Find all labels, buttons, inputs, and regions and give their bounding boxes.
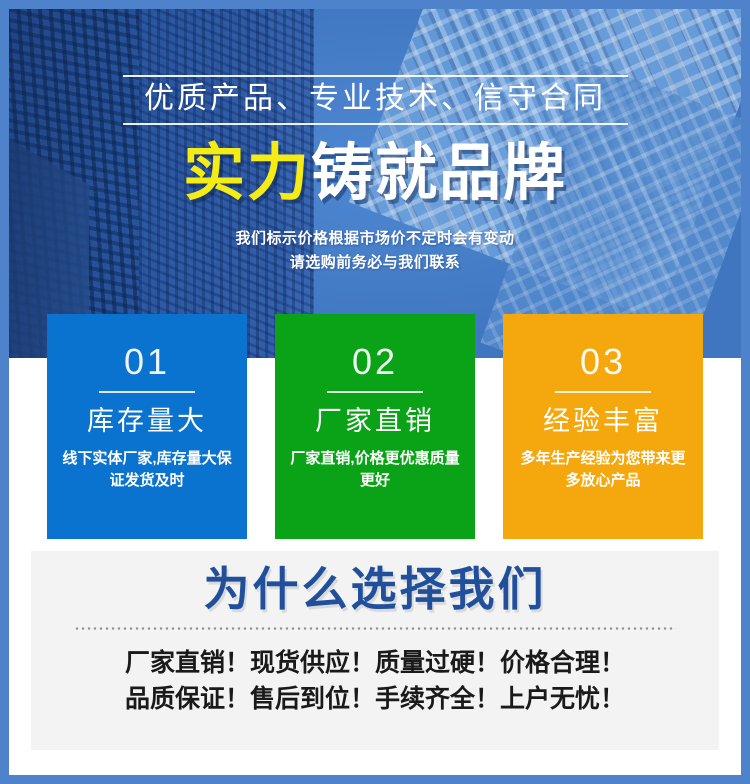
- why-choose-us-section: 为什么选择我们 厂家直销！现货供应！质量过硬！价格合理！ 品质保证！售后到位！手…: [31, 551, 719, 750]
- card-title: 厂家直销: [315, 407, 435, 437]
- card-divider: [555, 391, 651, 393]
- hero-subtext: 我们标示价格根据市场价不定时会有变动 请选购前务必与我们联系: [235, 227, 514, 277]
- slogan-list: 厂家直销！现货供应！质量过硬！价格合理！ 品质保证！售后到位！手续齐全！上户无忧…: [125, 646, 625, 717]
- promo-banner: 优质产品、专业技术、信守合同 实力铸就品牌 我们标示价格根据市场价不定时会有变动…: [0, 0, 750, 784]
- hero-subtext-line-2: 请选购前务必与我们联系: [235, 251, 514, 276]
- card-title: 库存量大: [87, 407, 207, 437]
- card-description: 多年生产经验为您带来更多放心产品: [515, 448, 691, 493]
- slogan-line-2: 品质保证！售后到位！手续齐全！上户无忧！: [125, 682, 625, 718]
- tagline-container: 优质产品、专业技术、信守合同: [123, 75, 628, 125]
- hero-headline: 实力铸就品牌: [183, 143, 567, 205]
- card-description: 厂家直销,价格更优惠质量更好: [287, 448, 463, 493]
- feature-card-02[interactable]: 02 厂家直销 厂家直销,价格更优惠质量更好: [275, 314, 475, 539]
- card-number: 03: [580, 344, 626, 380]
- hero-subtext-line-1: 我们标示价格根据市场价不定时会有变动: [235, 227, 514, 252]
- headline-highlight: 实力: [183, 139, 311, 208]
- slogan-line-1: 厂家直销！现货供应！质量过硬！价格合理！: [125, 646, 625, 682]
- card-number: 01: [124, 344, 170, 380]
- card-divider: [327, 391, 423, 393]
- feature-cards: 01 库存量大 线下实体厂家,库存量大保证发货及时 02 厂家直销 厂家直销,价…: [47, 314, 703, 539]
- headline-rest: 铸就品牌: [311, 139, 567, 208]
- dotted-divider: [74, 627, 676, 630]
- card-number: 02: [352, 344, 398, 380]
- hero-tagline: 优质产品、专业技术、信守合同: [123, 82, 628, 117]
- feature-card-03[interactable]: 03 经验丰富 多年生产经验为您带来更多放心产品: [503, 314, 703, 539]
- card-divider: [99, 391, 195, 393]
- hero-section: 优质产品、专业技术、信守合同 实力铸就品牌 我们标示价格根据市场价不定时会有变动…: [9, 9, 741, 358]
- why-choose-us-title: 为什么选择我们: [204, 565, 547, 613]
- feature-card-01[interactable]: 01 库存量大 线下实体厂家,库存量大保证发货及时: [47, 314, 247, 539]
- hero-content: 优质产品、专业技术、信守合同 实力铸就品牌 我们标示价格根据市场价不定时会有变动…: [9, 9, 741, 358]
- card-title: 经验丰富: [543, 407, 663, 437]
- card-description: 线下实体厂家,库存量大保证发货及时: [59, 448, 235, 493]
